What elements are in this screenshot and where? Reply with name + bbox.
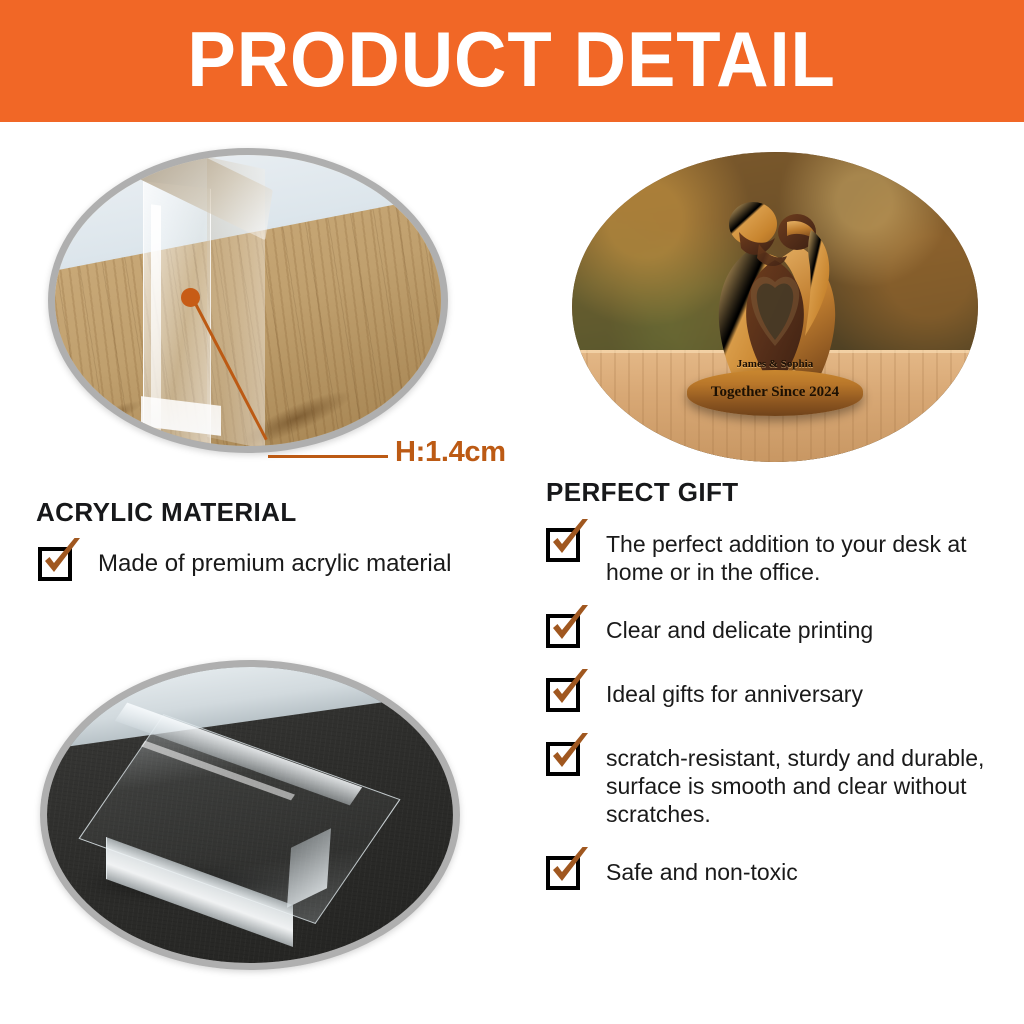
- list-item: The perfect addition to your desk at hom…: [546, 522, 1011, 586]
- list-item-label: The perfect addition to your desk at hom…: [606, 522, 1011, 586]
- list-item: Made of premium acrylic material: [38, 541, 528, 583]
- measure-callout-dot: [181, 288, 200, 307]
- checkbox-checked-icon: [38, 541, 80, 583]
- engraved-couple-name: James & Sophia: [737, 358, 813, 370]
- acrylic-block-photo: [40, 660, 460, 970]
- checkbox-checked-icon: [546, 736, 588, 778]
- checkbox-checked-icon: [546, 608, 588, 650]
- checkbox-checked-icon: [546, 522, 588, 564]
- feature-list-perfect-gift: The perfect addition to your desk at hom…: [546, 522, 1011, 914]
- list-item-label: Ideal gifts for anniversary: [606, 672, 863, 708]
- sculpture-photo: James & Sophia Together Since 2024: [572, 152, 978, 462]
- list-item-label: scratch-resistant, sturdy and durable, s…: [606, 736, 1011, 828]
- page-title: PRODUCT DETAIL: [188, 20, 836, 98]
- feature-list-acrylic-material: Made of premium acrylic material: [38, 541, 528, 583]
- list-item-label: Made of premium acrylic material: [98, 541, 451, 578]
- section-heading-acrylic-material: ACRYLIC MATERIAL: [36, 497, 297, 528]
- list-item: Clear and delicate printing: [546, 608, 1011, 650]
- list-item: Safe and non-toxic: [546, 850, 1011, 892]
- header-banner: PRODUCT DETAIL: [0, 0, 1024, 122]
- height-measurement-label: H:1.4cm: [395, 436, 506, 469]
- list-item-label: Safe and non-toxic: [606, 850, 798, 886]
- acrylic-block: [103, 743, 353, 923]
- wood-grain-knot: [66, 394, 146, 441]
- list-item: scratch-resistant, sturdy and durable, s…: [546, 736, 1011, 828]
- list-item: Ideal gifts for anniversary: [546, 672, 1011, 714]
- list-item-label: Clear and delicate printing: [606, 608, 873, 644]
- section-heading-perfect-gift: PERFECT GIFT: [546, 477, 739, 508]
- measure-callout-leader-horizontal: [268, 455, 388, 458]
- checkbox-checked-icon: [546, 850, 588, 892]
- checkbox-checked-icon: [546, 672, 588, 714]
- engraved-date-text: Together Since 2024: [711, 384, 839, 401]
